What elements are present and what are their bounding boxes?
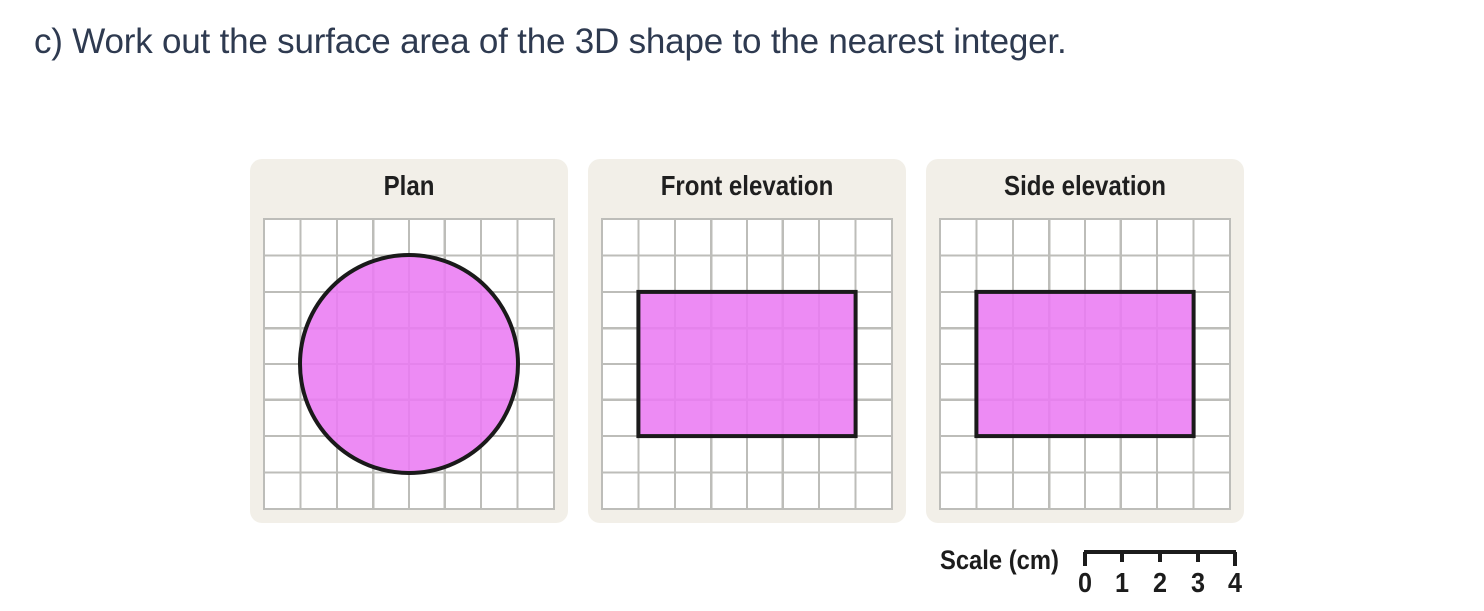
plan-shape-circle <box>300 255 518 473</box>
side-elevation-shape-rect <box>976 292 1193 436</box>
panel-plan: Plan <box>250 159 568 523</box>
ruler-tick-label: 1 <box>1111 566 1133 600</box>
grid-front-elevation <box>601 218 893 510</box>
ruler-tick-label: 4 <box>1224 566 1246 600</box>
scale-bar: Scale (cm) 0 1 2 3 4 <box>940 538 1240 606</box>
elevations-diagram: Plan <box>0 0 1484 611</box>
panel-title-front-elevation: Front elevation <box>610 169 883 203</box>
panel-side-elevation: Side elevation <box>926 159 1244 523</box>
panel-title-plan: Plan <box>272 169 545 203</box>
front-elevation-shape-rect <box>638 292 855 436</box>
grid-plan <box>263 218 555 510</box>
ruler-tick-label: 2 <box>1149 566 1171 600</box>
grid-side-elevation <box>939 218 1231 510</box>
ruler-tick-labels: 0 1 2 3 4 <box>1082 566 1234 602</box>
ruler-tick-label: 0 <box>1074 566 1096 600</box>
scale-label: Scale (cm) <box>940 544 1059 576</box>
panel-title-side-elevation: Side elevation <box>948 169 1221 203</box>
panel-front-elevation: Front elevation <box>588 159 906 523</box>
ruler-tick-label: 3 <box>1187 566 1209 600</box>
